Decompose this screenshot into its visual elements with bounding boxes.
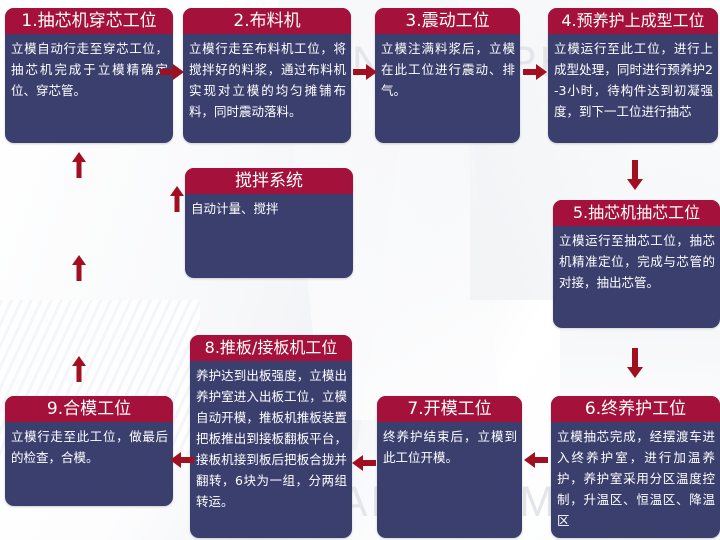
node-box4[interactable]: 4.预养护上成型工位 立模运行至此工位，进行上成型处理，同时进行预养护2-3小时… <box>548 8 718 143</box>
node-box6[interactable]: 6.终养护工位 立模抽芯完成，经摆渡车进入终养护室，进行加温养护，养护室采用分区… <box>551 396 720 538</box>
node-box1-title: 1.抽芯机穿芯工位 <box>5 8 173 34</box>
node-box5[interactable]: 5.抽芯机抽芯工位 立模运行至抽芯工位，抽芯机精准定位，完成与芯管的对接，抽出芯… <box>553 200 720 328</box>
node-box7-text: 终养护结束后，立模到此工位开模。 <box>377 422 522 472</box>
flowchart-canvas: NEWS PHOTO MANA COMPANY 1.抽芯机穿芯工位 立模自动行走… <box>0 0 720 540</box>
node-box3[interactable]: 3.震动工位 立模注满料浆后，立模在此工位进行震动、排气。 <box>375 8 520 143</box>
arrow-right-icon-box3-box4 <box>523 64 547 80</box>
node-box9-title: 9.合模工位 <box>5 396 173 422</box>
arrow-down-icon-box4-box5 <box>627 160 643 190</box>
node-box5-text: 立模运行至抽芯工位，抽芯机精准定位，完成与芯管的对接，抽出芯管。 <box>553 226 720 297</box>
node-box6-text: 立模抽芯完成，经摆渡车进入终养护室，进行加温养护，养护室采用分区温度控制，升温区… <box>551 422 720 535</box>
node-mixer[interactable]: 搅拌系统 自动计量、搅拌 <box>185 168 353 278</box>
node-box3-text: 立模注满料浆后，立模在此工位进行震动、排气。 <box>375 34 520 105</box>
node-box7[interactable]: 7.开模工位 终养护结束后，立模到此工位开模。 <box>377 396 522 538</box>
node-box1[interactable]: 1.抽芯机穿芯工位 立模自动行走至穿芯工位，抽芯机完成于立模精确定位、穿芯管。 <box>5 8 173 143</box>
arrow-left-icon-box7-box8 <box>352 455 376 471</box>
arrow-up-icon-mixer-to-box2 <box>170 186 184 212</box>
arrow-up-icon-left-2 <box>72 255 86 281</box>
arrow-up-icon-left-1 <box>72 152 86 178</box>
arrow-up-icon-left-3 <box>72 356 86 382</box>
node-box7-title: 7.开模工位 <box>377 396 522 422</box>
node-mixer-text: 自动计量、搅拌 <box>185 194 353 223</box>
node-box8-text: 养护达到出板强度，立模出养护室进入出板工位，立模自动开模，推板机推板装置把板推出… <box>190 361 352 516</box>
node-box2[interactable]: 2.布料机 立模行走至布料机工位，将搅拌好的料浆，通过布料机实现对立模的均匀摊铺… <box>183 8 351 143</box>
arrow-left-icon-box6-box7 <box>524 452 548 468</box>
node-box4-title: 4.预养护上成型工位 <box>548 8 718 34</box>
node-box5-title: 5.抽芯机抽芯工位 <box>553 200 720 226</box>
node-box9[interactable]: 9.合模工位 立模行走至此工位，做最后的检查，合模。 <box>5 396 173 506</box>
node-box3-title: 3.震动工位 <box>375 8 520 34</box>
node-box2-title: 2.布料机 <box>183 8 351 34</box>
node-box9-text: 立模行走至此工位，做最后的检查，合模。 <box>5 422 173 472</box>
node-box8-title: 8.推板/接板机工位 <box>190 335 352 361</box>
node-box1-text: 立模自动行走至穿芯工位，抽芯机完成于立模精确定位、穿芯管。 <box>5 34 173 105</box>
node-box6-title: 6.终养护工位 <box>551 396 720 422</box>
node-box4-text: 立模运行至此工位，进行上成型处理，同时进行预养护2-3小时，待构件达到初凝强度，… <box>548 34 718 126</box>
node-box8[interactable]: 8.推板/接板机工位 养护达到出板强度，立模出养护室进入出板工位，立模自动开模，… <box>190 335 352 538</box>
arrow-right-icon-box2-box3 <box>353 64 377 80</box>
node-box2-text: 立模行走至布料机工位，将搅拌好的料浆，通过布料机实现对立模的均匀摊铺布料，同时震… <box>183 34 351 126</box>
node-mixer-title: 搅拌系统 <box>185 168 353 194</box>
arrow-down-icon-box5-box6 <box>627 348 643 378</box>
